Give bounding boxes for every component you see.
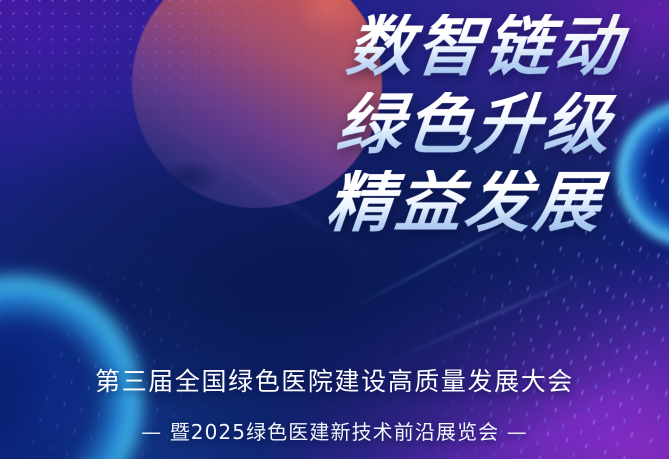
headline-line-1: 数智链动 (0, 14, 632, 80)
dash-right: — (507, 420, 528, 444)
headline-line-3: 精益发展 (0, 170, 632, 236)
exhibition-name: 暨2025绿色医建新技术前沿展览会 (170, 420, 500, 444)
dash-left: — (141, 420, 162, 444)
subtitle-block: 第三届全国绿色医院建设高质量发展大会 — 暨2025绿色医建新技术前沿展览会 — (0, 362, 669, 445)
conference-name: 第三届全国绿色医院建设高质量发展大会 (0, 362, 669, 398)
headline-line-2: 绿色升级 (0, 92, 632, 158)
exhibition-name-row: — 暨2025绿色医建新技术前沿展览会 — (0, 416, 669, 445)
conference-poster: 数智链动 绿色升级 精益发展 第三届全国绿色医院建设高质量发展大会 — 暨202… (0, 0, 669, 459)
headline-block: 数智链动 绿色升级 精益发展 (0, 0, 669, 236)
